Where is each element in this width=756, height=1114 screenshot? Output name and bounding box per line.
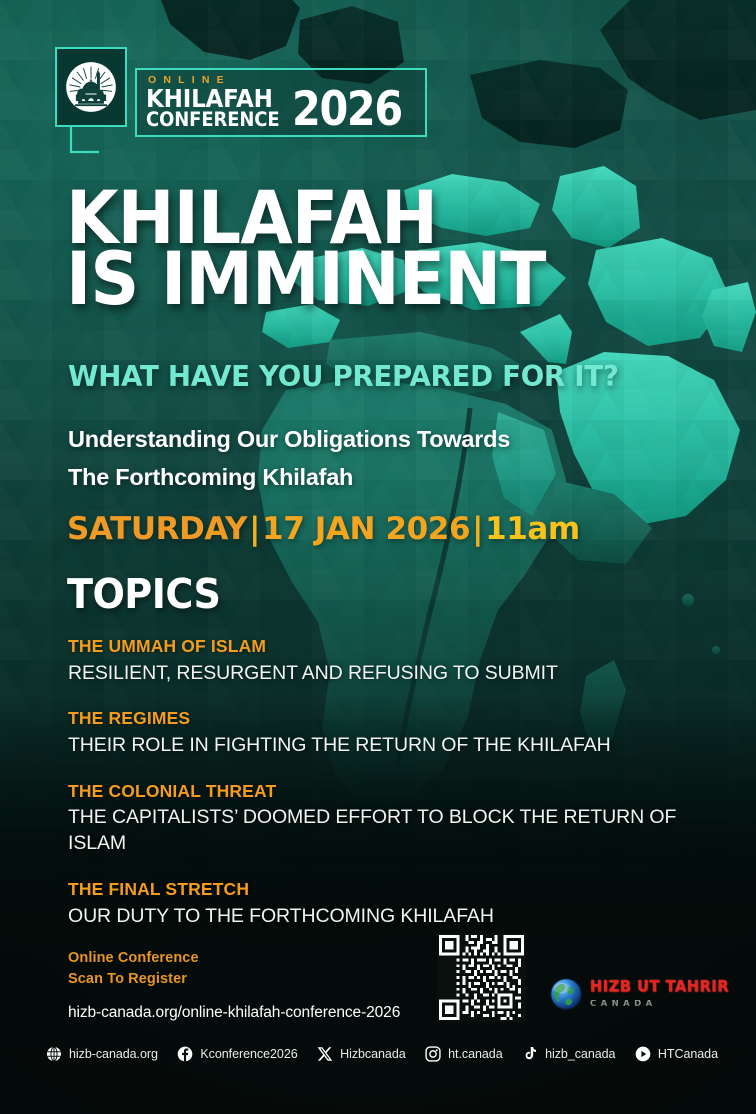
- social-label: ht.canada: [448, 1047, 502, 1061]
- topic-heading: THE REGIMES: [68, 708, 688, 729]
- organization-logo: HIZB UT TAHRIR CANADA: [549, 977, 729, 1011]
- globe-icon: [46, 1046, 62, 1062]
- registration-url[interactable]: hizb-canada.org/online-khilafah-conferen…: [68, 1004, 400, 1022]
- event-day: SATURDAY: [67, 511, 247, 547]
- registration-block: Online Conference Scan To Register hizb-…: [68, 948, 400, 1022]
- register-line-1: Online Conference: [68, 948, 400, 969]
- headline-line-2: IS IMMINENT: [66, 249, 546, 310]
- social-label: hizb-canada.org: [69, 1047, 158, 1061]
- topics-list: THE UMMAH OF ISLAM RESILIENT, RESURGENT …: [68, 636, 688, 929]
- headline-question: WHAT HAVE YOU PREPARED FOR IT?: [68, 363, 619, 392]
- event-datetime: SATURDAY|17 JAN 2026|11am: [67, 514, 580, 545]
- topic-subtitle: OUR DUTY TO THE FORTHCOMING KHILAFAH: [68, 904, 688, 930]
- topic-item: THE REGIMES THEIR ROLE IN FIGHTING THE R…: [68, 708, 688, 758]
- mosque-icon: [64, 60, 118, 114]
- topic-subtitle: THE CAPITALISTS’ DOOMED EFFORT TO BLOCK …: [68, 805, 688, 856]
- facebook-icon: [177, 1046, 193, 1062]
- conference-logo-lockup: ONLINE KHILAFAH CONFERENCE 2026: [55, 47, 427, 137]
- social-label: HTCanada: [658, 1047, 718, 1061]
- logo-badge-tail: [69, 125, 105, 155]
- instagram-icon: [425, 1046, 441, 1062]
- globe-icon: [549, 977, 583, 1011]
- qr-code-icon[interactable]: [437, 933, 526, 1022]
- social-label: Hizbcanada: [340, 1047, 406, 1061]
- topic-item: THE UMMAH OF ISLAM RESILIENT, RESURGENT …: [68, 636, 688, 686]
- event-date: 17 JAN 2026: [262, 511, 470, 547]
- social-label: Kconference2026: [200, 1047, 297, 1061]
- topic-heading: THE UMMAH OF ISLAM: [68, 636, 688, 657]
- topic-heading: THE FINAL STRETCH: [68, 879, 688, 900]
- topic-item: THE FINAL STRETCH OUR DUTY TO THE FORTHC…: [68, 879, 688, 929]
- datetime-separator-1: |: [247, 511, 262, 547]
- social-media-bar: hizb-canada.org Kconference2026: [0, 1046, 756, 1062]
- logo-wordmark-box: ONLINE KHILAFAH CONFERENCE 2026: [135, 68, 427, 137]
- topics-section-title: TOPICS: [67, 574, 220, 615]
- conference-poster: ONLINE KHILAFAH CONFERENCE 2026 KHILAFAH…: [0, 0, 756, 1114]
- poster-description: Understanding Our Obligations Towards Th…: [68, 420, 510, 496]
- tiktok-icon: [522, 1046, 538, 1062]
- social-item-tiktok[interactable]: hizb_canada: [522, 1046, 615, 1062]
- logo-khilafah-text: KHILAFAH: [146, 88, 280, 110]
- x-twitter-icon: [317, 1046, 333, 1062]
- datetime-separator-2: |: [470, 511, 485, 547]
- poster-headline: KHILAFAH IS IMMINENT: [66, 188, 546, 311]
- social-item-x[interactable]: Hizbcanada: [317, 1046, 406, 1062]
- organization-name: HIZB UT TAHRIR: [590, 979, 729, 995]
- social-label: hizb_canada: [545, 1047, 615, 1061]
- event-time: 11am: [485, 511, 580, 547]
- social-item-instagram[interactable]: ht.canada: [425, 1046, 502, 1062]
- logo-conference-text: CONFERENCE: [146, 111, 280, 130]
- topic-heading: THE COLONIAL THREAT: [68, 781, 688, 802]
- social-item-youtube[interactable]: HTCanada: [635, 1046, 718, 1062]
- youtube-icon: [635, 1046, 651, 1062]
- social-item-website[interactable]: hizb-canada.org: [46, 1046, 158, 1062]
- topic-item: THE COLONIAL THREAT THE CAPITALISTS’ DOO…: [68, 781, 688, 857]
- register-line-2: Scan To Register: [68, 969, 400, 990]
- logo-year-text: 2026: [292, 92, 402, 129]
- topic-subtitle: THEIR ROLE IN FIGHTING THE RETURN OF THE…: [68, 733, 688, 759]
- social-item-facebook[interactable]: Kconference2026: [177, 1046, 297, 1062]
- description-line-2: The Forthcoming Khilafah: [68, 458, 510, 496]
- logo-badge: [55, 47, 127, 127]
- topic-subtitle: RESILIENT, RESURGENT AND REFUSING TO SUB…: [68, 661, 688, 687]
- organization-country: CANADA: [590, 1000, 729, 1009]
- description-line-1: Understanding Our Obligations Towards: [68, 420, 510, 458]
